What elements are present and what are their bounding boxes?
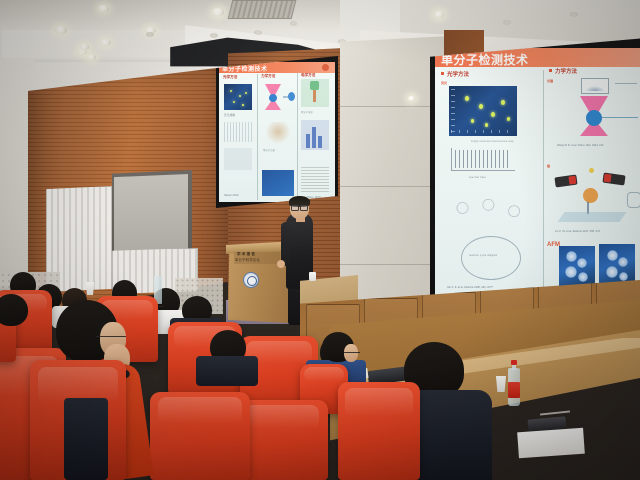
bottle-label	[508, 382, 520, 398]
left-panel-label-2: 单分子电导	[301, 112, 313, 115]
right-col1-sublabel: 磁	[547, 164, 550, 168]
downlight-icon	[80, 44, 89, 50]
figure-reaction-cycle	[461, 236, 521, 280]
downlight-icon	[254, 30, 262, 35]
downlight-icon	[212, 8, 224, 16]
university-crest-icon	[243, 272, 259, 288]
left-projection-screen[interactable]: 单分子检测技术 光学方法 力学方法 电学方法 荧光成像	[216, 56, 338, 208]
right-col0-panel-0: single-molecule fluorescence map	[471, 140, 514, 144]
right-projection-screen[interactable]: 单分子检测技术 光学方法 力学方法 荧光	[430, 38, 640, 306]
right-col1-citation-0: Wang M. D. et al. Chem. Rev. 2014, 114	[557, 144, 603, 147]
eyeglasses-icon	[291, 205, 308, 209]
downlight-icon	[100, 39, 111, 46]
figure-plot	[301, 166, 329, 192]
left-column-header-2: 电学方法	[301, 73, 315, 78]
right-col0-label: 荧光	[441, 81, 447, 85]
figure-trace	[224, 122, 252, 142]
lecture-hall-photo: 单分子检测技术 光学方法 力学方法 电学方法 荧光成像	[0, 0, 640, 480]
figure-afm-image-2	[599, 244, 635, 284]
lectern-banner-line-2: 单分子科学论坛	[235, 257, 260, 262]
attendee-body	[64, 398, 108, 480]
left-column-header-0: 光学方法	[223, 75, 237, 80]
downlight-icon	[503, 20, 511, 25]
downlight-icon	[434, 11, 444, 18]
figure-structure	[224, 148, 252, 170]
handout-sheet[interactable]	[517, 428, 585, 459]
figure-histogram	[301, 120, 329, 150]
downlight-icon	[408, 96, 415, 101]
figure-optical-tweezers-schematic	[553, 78, 639, 140]
downlight-icon	[98, 5, 109, 12]
figure-fluorescence	[224, 84, 252, 110]
left-slide: 单分子检测技术 光学方法 力学方法 电学方法 荧光成像	[219, 62, 335, 202]
downlight-icon	[87, 54, 96, 60]
whiteboard	[114, 174, 188, 252]
right-col1-citation-1: Liu C. W. et al. Science 2017, 358, 272	[555, 230, 600, 233]
downlight-icon	[570, 12, 578, 17]
right-column-header-0: 光学方法	[447, 70, 469, 78]
right-col0-caption: spectral trace	[469, 176, 486, 180]
left-citation-0: Nature 2010	[224, 194, 238, 197]
figure-molecular-structure	[447, 188, 533, 228]
right-col0-panel-3: reaction cycle diagram	[469, 254, 497, 258]
figure-magnetic-tweezers-schematic	[553, 166, 640, 226]
water-bottle[interactable]	[508, 360, 520, 406]
audience-seat[interactable]	[150, 392, 250, 480]
downlight-icon	[210, 33, 218, 38]
right-slide: 单分子检测技术 光学方法 力学方法 荧光	[435, 48, 640, 296]
left-panel-label-0: 荧光成像	[224, 114, 235, 118]
attendee-head	[0, 294, 28, 326]
figure-afm-left	[262, 170, 294, 196]
figure-sm-fluorescence-map	[449, 86, 517, 136]
left-panel-label-1: 单分子力谱	[263, 150, 275, 153]
presenter-hand	[277, 260, 285, 268]
logo-mark	[322, 64, 329, 71]
figure-afm-image-1	[559, 246, 595, 286]
right-col0-citation: Xie X. S. et al. Science 1998, 282, 1877	[447, 286, 493, 289]
audience-seat[interactable]	[338, 382, 420, 480]
paper-cup[interactable]	[309, 272, 316, 281]
right-column-header-1: 力学方法	[555, 67, 577, 75]
downlight-icon	[290, 21, 297, 26]
figure-junction	[301, 79, 329, 107]
figure-spectral-trace	[451, 148, 515, 172]
figure-optical-tweezers	[261, 84, 295, 114]
eyeglasses-icon	[96, 336, 126, 340]
attendee-body	[196, 356, 258, 386]
figure-molecule	[263, 122, 293, 146]
air-vent-grille	[228, 0, 297, 19]
ballpoint-pen[interactable]	[540, 410, 570, 415]
downlight-icon	[55, 26, 67, 34]
left-column-header-1: 力学方法	[261, 74, 275, 79]
eyeglasses-icon	[344, 352, 360, 356]
downlight-icon	[146, 32, 154, 37]
bottle-cap	[511, 360, 517, 365]
